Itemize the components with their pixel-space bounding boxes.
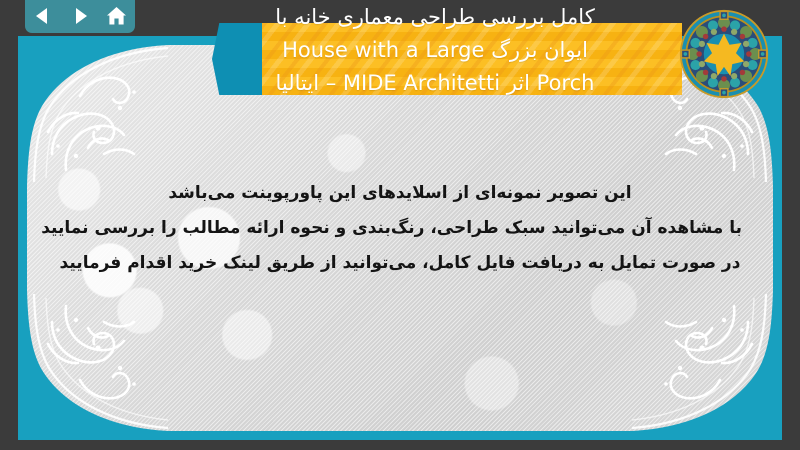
triangle-right-icon (70, 6, 90, 26)
slide-body-line-2: با مشاهده آن می‌توانید سبک طراحی، رنگ‌بن… (58, 211, 742, 246)
persian-medallion-ornament-icon (678, 8, 770, 100)
home-button[interactable] (104, 4, 130, 28)
back-button[interactable] (30, 4, 56, 28)
navigation-bar (25, 0, 135, 33)
slide-body-text: این تصویر نمونه‌ای از اسلایدهای این پاور… (58, 176, 742, 281)
triangle-left-icon (33, 6, 53, 26)
page-title-line-2: ایوان بزرگ House with a Large (200, 34, 670, 67)
page-title-line-3: Porch اثر MIDE Architetti – ایتالیا (200, 67, 670, 100)
app-window: این تصویر نمونه‌ای از اسلایدهای این پاور… (0, 0, 800, 450)
page-title: کامل بررسی طراحی معماری خانه با ایوان بز… (200, 1, 670, 100)
forward-button[interactable] (67, 4, 93, 28)
home-icon (106, 6, 127, 26)
slide-body-line-3: در صورت تمایل به دریافت فایل کامل، می‌تو… (58, 246, 742, 281)
slide-body-line-1: این تصویر نمونه‌ای از اسلایدهای این پاور… (58, 176, 742, 211)
page-title-line-1: کامل بررسی طراحی معماری خانه با (200, 1, 670, 34)
